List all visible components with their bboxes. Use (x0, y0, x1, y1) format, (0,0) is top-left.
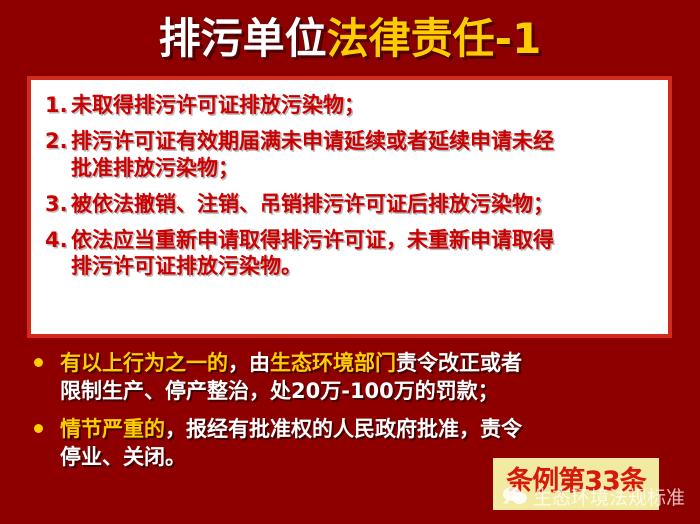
source-reference-text: 条例第33条 (506, 459, 646, 498)
list-item-body: 未取得排污许可证排放污染物； (71, 92, 656, 119)
numbered-list-card: 1. 未取得排污许可证排放污染物； 2. 排污许可证有效期届满未申请延续或者延续… (27, 76, 672, 338)
list-item-number: 3. (45, 191, 71, 218)
bullet-text: 有以上行为之一的，由生态环境部门责令改正或者限制生产、停产整治，处20万-100… (60, 349, 674, 405)
title-text: 排污单位法律责任-1 (159, 18, 542, 60)
slide-canvas: 排污单位法律责任-1 1. 未取得排污许可证排放污染物； 2. 排污许可证有效期… (0, 0, 700, 524)
bullet-plain-line2: 限制生产、停产整治，处20万-100万的罚款； (60, 379, 499, 403)
list-item-number: 2. (45, 128, 71, 155)
list-item: 2. 排污许可证有效期届满未申请延续或者延续申请未经 批准排放污染物； (45, 128, 656, 182)
bullet-dot-icon (34, 415, 60, 433)
bullet-plain: ，报经有批准权的人民政府批准，责令 (165, 417, 522, 441)
list-item-line: 排污许可证排放污染物。 (71, 253, 656, 280)
title-gold-part: 法律责任-1 (327, 14, 542, 63)
bullet-highlight: 生态环境部门 (270, 351, 396, 375)
slide-title: 排污单位法律责任-1 (0, 6, 700, 72)
list-item-line: 被依法撤销、注销、吊销排污许可证后排放污染物； (71, 192, 554, 216)
bullet-item: 有以上行为之一的，由生态环境部门责令改正或者限制生产、停产整治，处20万-100… (34, 349, 674, 405)
list-item-number: 4. (45, 227, 71, 254)
numbered-list: 1. 未取得排污许可证排放污染物； 2. 排污许可证有效期届满未申请延续或者延续… (31, 80, 668, 295)
list-item-line: 未取得排污许可证排放污染物； (71, 93, 365, 117)
list-item-line: 批准排放污染物； (71, 155, 656, 182)
list-item-line: 依法应当重新申请取得排污许可证，未重新申请取得 (71, 228, 554, 252)
bullet-plain: 责令改正或者 (396, 351, 522, 375)
bullet-plain-line2: 停业、关闭。 (60, 445, 186, 469)
list-item-body: 依法应当重新申请取得排污许可证，未重新申请取得 排污许可证排放污染物。 (71, 227, 656, 281)
bullet-highlight: 情节严重的 (60, 417, 165, 441)
bullet-plain: ，由 (228, 351, 270, 375)
bullet-dot-icon (34, 349, 60, 367)
list-item-body: 被依法撤销、注销、吊销排污许可证后排放污染物； (71, 191, 656, 218)
bullet-highlight: 有以上行为之一的 (60, 351, 228, 375)
list-item-body: 排污许可证有效期届满未申请延续或者延续申请未经 批准排放污染物； (71, 128, 656, 182)
source-reference-stamp: 条例第33条 (493, 458, 659, 510)
list-item: 1. 未取得排污许可证排放污染物； (45, 92, 656, 119)
list-item-line: 排污许可证有效期届满未申请延续或者延续申请未经 (71, 129, 554, 153)
list-item: 4. 依法应当重新申请取得排污许可证，未重新申请取得 排污许可证排放污染物。 (45, 227, 656, 281)
title-white-part: 排污单位 (159, 14, 327, 63)
list-item-number: 1. (45, 92, 71, 119)
list-item: 3. 被依法撤销、注销、吊销排污许可证后排放污染物； (45, 191, 656, 218)
